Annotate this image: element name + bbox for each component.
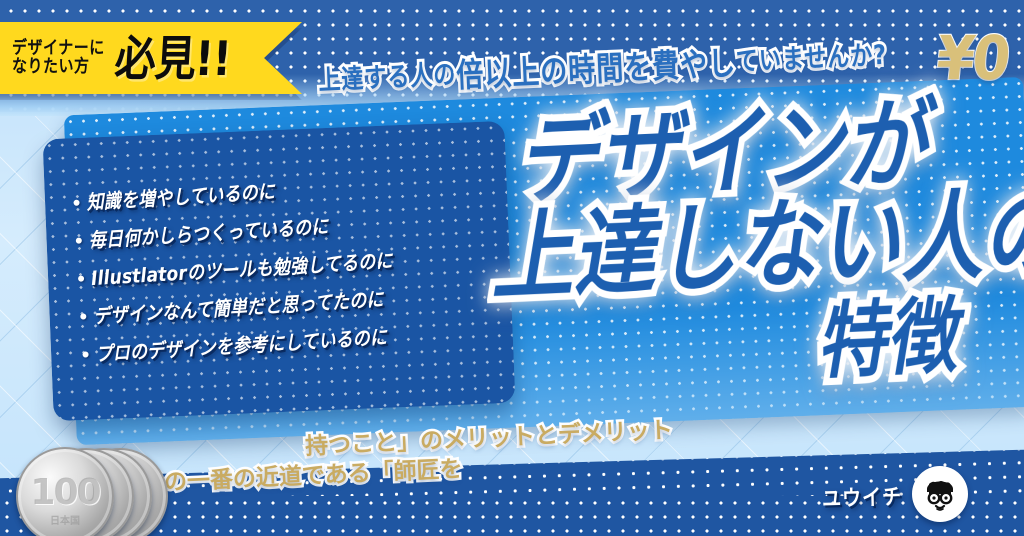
- bullet-dot-icon: [80, 313, 86, 319]
- coin-front: 100 日本国: [16, 447, 114, 536]
- ribbon-emphasis: 必見!!: [113, 35, 231, 83]
- kicker-emphasis: 倍以上の時間を費やし: [455, 36, 737, 96]
- bullet-dot-icon: [73, 200, 79, 206]
- kicker-suffix: ていませんか?: [735, 33, 888, 79]
- must-see-ribbon: デザイナーに なりたい方 必見!!: [0, 22, 302, 94]
- author-name: ユウイチ: [822, 480, 903, 513]
- bullet-dot-icon: [76, 237, 82, 243]
- banner-canvas: デザイナーに なりたい方 必見!! 上達する人の 倍以上の時間を費やし ていませ…: [0, 0, 1024, 536]
- price-label: ¥0: [934, 29, 1012, 89]
- kicker-prefix: 上達する人の: [317, 53, 457, 98]
- bullet-list: 知識を増やしているのに 毎日何かしらつくっているのに Illustlatorのツ…: [73, 163, 514, 378]
- bullet-dot-icon: [82, 351, 88, 357]
- avatar: [912, 466, 968, 522]
- bullet-label: プロのデザインを参考にしているのに: [95, 321, 388, 367]
- ribbon-line-2: なりたい方: [12, 58, 105, 77]
- coin-stack-graphic: 100 日本国: [12, 442, 182, 536]
- coin-caption-label: 日本国: [18, 512, 112, 527]
- person-glasses-avatar-icon: [918, 472, 962, 516]
- headline: デザインが 上達しない人の 特徴: [498, 112, 968, 374]
- ribbon-small-text: デザイナーに なりたい方: [12, 39, 105, 77]
- bullet-dot-icon: [78, 275, 84, 281]
- bullet-label: 毎日何かしらつくっているのに: [88, 210, 329, 253]
- headline-line-3: 特徴: [814, 294, 970, 383]
- ribbon-inner: デザイナーに なりたい方 必見!!: [0, 37, 230, 80]
- bullet-label: デザインなんて簡単だと思ってたのに: [92, 283, 384, 329]
- coin-value-label: 100: [30, 472, 99, 513]
